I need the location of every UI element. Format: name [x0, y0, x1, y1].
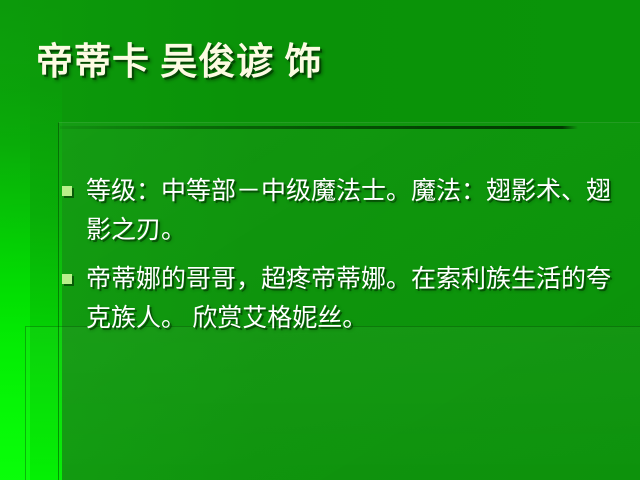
presentation-slide: 帝蒂卡 吴俊谚 饰 等级：中等部－中级魔法士。魔法：翅影术、翅影之刃。 帝蒂娜的… — [0, 0, 640, 480]
list-item: 等级：中等部－中级魔法士。魔法：翅影术、翅影之刃。 — [62, 172, 632, 250]
body-placeholder: 等级：中等部－中级魔法士。魔法：翅影术、翅影之刃。 帝蒂娜的哥哥，超疼帝蒂娜。在… — [62, 172, 632, 348]
slide-title: 帝蒂卡 吴俊谚 饰 — [36, 36, 596, 90]
title-divider-line — [60, 126, 578, 129]
square-bullet-icon — [62, 274, 72, 284]
title-placeholder: 帝蒂卡 吴俊谚 饰 — [36, 36, 596, 98]
square-bullet-icon — [62, 186, 72, 196]
bullet-text: 帝蒂娜的哥哥，超疼帝蒂娜。在索利族生活的夸克族人。 欣赏艾格妮丝。 — [86, 260, 632, 338]
list-item: 帝蒂娜的哥哥，超疼帝蒂娜。在索利族生活的夸克族人。 欣赏艾格妮丝。 — [62, 260, 632, 338]
bullet-text: 等级：中等部－中级魔法士。魔法：翅影术、翅影之刃。 — [86, 172, 632, 250]
